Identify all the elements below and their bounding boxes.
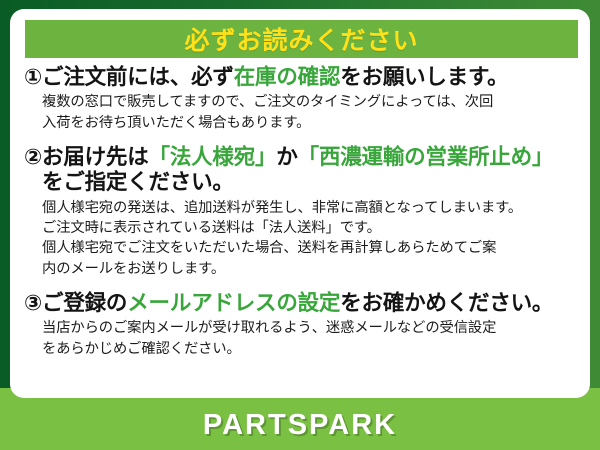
notice-item-3-heading-pre: ご登録の	[42, 291, 127, 316]
notice-item-3: ③ご登録のメールアドレスの設定をお確かめください。 当店からのご案内メールが受け…	[10, 291, 590, 359]
notice-item-2-heading-accent: 「法人様宛」	[149, 145, 277, 170]
notice-item-1-heading-accent: 在庫の確認	[234, 65, 341, 90]
content-panel: 必ずお読みください ①ご注文前には、必ず在庫の確認をお願いします。 複数の窓口で…	[10, 9, 590, 398]
notice-item-3-heading-post: をお確かめください。	[340, 291, 553, 316]
notice-item-3-body-line-1: 当店からのご案内メールが受け取れるよう、迷惑メールなどの受信設定	[42, 318, 578, 338]
notice-item-1-body: 複数の窓口で販売してますので、ご注文のタイミングによっては、次回 入荷をお待ち頂…	[24, 92, 578, 133]
notice-item-2-marker: ②	[24, 145, 42, 170]
notice-item-1-heading-post: をお願いします。	[340, 65, 508, 90]
brand-logo: PARTSPARK	[0, 409, 600, 442]
notice-item-3-heading: ③ご登録のメールアドレスの設定をお確かめください。	[24, 291, 578, 316]
notice-list: ①ご注文前には、必ず在庫の確認をお願いします。 複数の窓口で販売してますので、ご…	[10, 65, 590, 359]
notice-item-1-heading: ①ご注文前には、必ず在庫の確認をお願いします。	[24, 65, 578, 90]
notice-item-2-heading-accent-2: 「西濃運輸の営業所止め」	[298, 145, 554, 170]
notice-item-2-heading-pre: お届け先は	[42, 145, 149, 170]
page-title: 必ずお読みください	[184, 21, 418, 57]
notice-item-2: ②お届け先は「法人様宛」か「西濃運輸の営業所止め」 をご指定ください。 個人様宅…	[10, 145, 590, 279]
notice-item-2-body-line-3: 個人様宅宛でご注文をいただいた場合、送料を再計算しあらためてご案	[42, 238, 578, 258]
notice-item-2-body-line-4: 内のメールをお送りします。	[42, 259, 578, 279]
header-bar: 必ずお読みください	[25, 20, 578, 58]
notice-item-1-heading-pre: ご注文前には、必ず	[42, 65, 234, 90]
notice-item-2-body-line-2: ご注文時に表示されている送料は「法人送料」です。	[42, 218, 578, 238]
notice-item-2-heading-line-2: をご指定ください。	[24, 170, 578, 195]
notice-banner: PARTSPARK 必ずお読みください ①ご注文前には、必ず在庫の確認をお願いし…	[0, 0, 600, 450]
notice-item-3-heading-accent: メールアドレスの設定	[127, 291, 340, 316]
notice-item-1-body-line-1: 複数の窓口で販売してますので、ご注文のタイミングによっては、次回	[42, 92, 578, 112]
notice-item-1-body-line-2: 入荷をお待ち頂いただく場合もあります。	[42, 113, 578, 133]
notice-item-2-heading: ②お届け先は「法人様宛」か「西濃運輸の営業所止め」	[24, 145, 578, 170]
notice-item-1: ①ご注文前には、必ず在庫の確認をお願いします。 複数の窓口で販売してますので、ご…	[10, 65, 590, 133]
notice-item-2-body: 個人様宅宛の発送は、追加送料が発生し、非常に高額となってしまいます。 ご注文時に…	[24, 198, 578, 279]
notice-item-3-marker: ③	[24, 291, 42, 316]
notice-item-3-body: 当店からのご案内メールが受け取れるよう、迷惑メールなどの受信設定 をあらかじめご…	[24, 318, 578, 359]
notice-item-3-body-line-2: をあらかじめご確認ください。	[42, 339, 578, 359]
notice-item-2-body-line-1: 個人様宅宛の発送は、追加送料が発生し、非常に高額となってしまいます。	[42, 198, 578, 218]
notice-item-2-heading-mid: か	[276, 145, 297, 170]
notice-item-1-marker: ①	[24, 65, 42, 90]
